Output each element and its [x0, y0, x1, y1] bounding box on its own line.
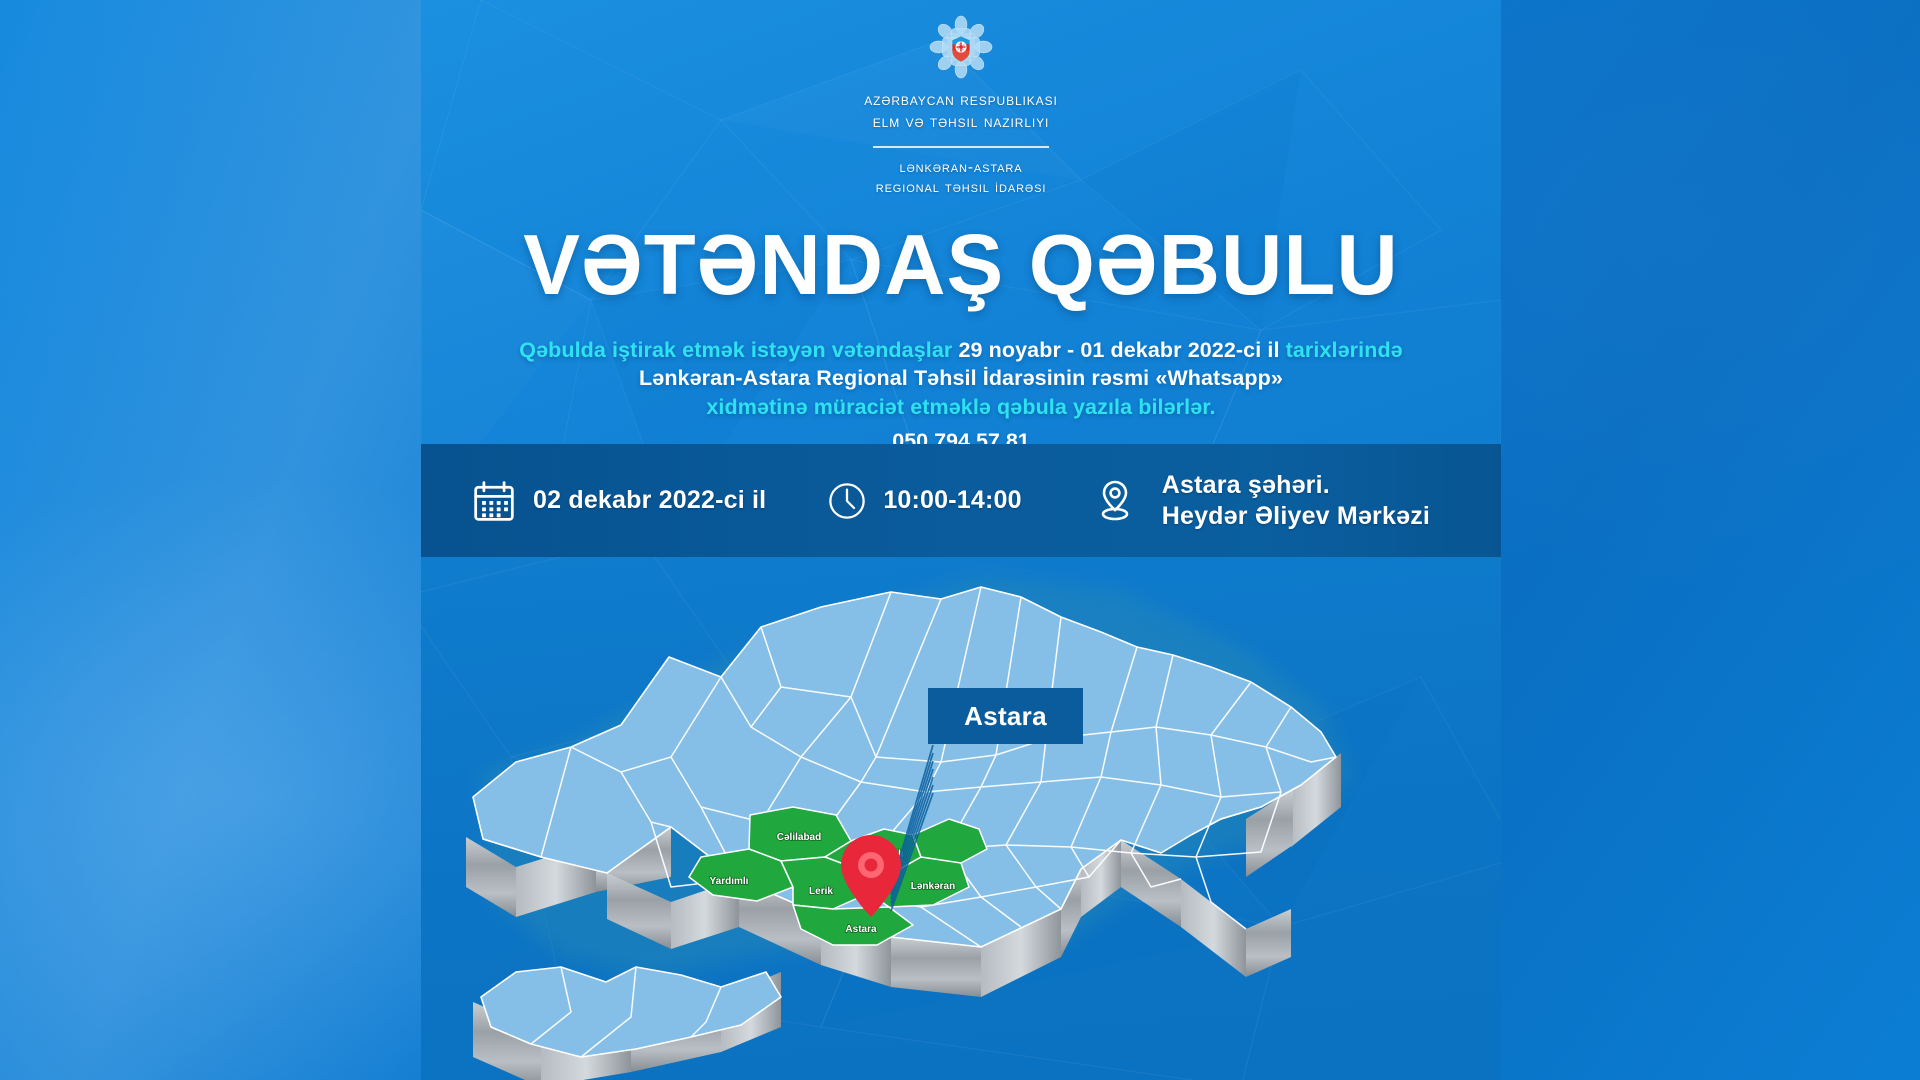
azerbaijan-ministry-emblem-icon [928, 14, 994, 80]
event-location-line2: Heydər Əliyev Mərkəzi [1162, 501, 1430, 532]
department-name-line2: Regional Təhsil İdarəsi [421, 178, 1501, 199]
page-title: VƏTƏNDAŞ QƏBULU [421, 223, 1501, 308]
region-label-yardimli: Yardımlı [710, 876, 749, 887]
map-section: Cəlilabad Masallı Yardımlı Lerik Lənkəra… [421, 557, 1501, 1080]
astara-callout-label: Astara [964, 701, 1047, 732]
announcement-text: Qəbulda iştirak etmək istəyən vətəndaşla… [421, 336, 1501, 454]
poster-canvas: Azərbaycan Respublikası Elm və Təhsil Na… [421, 0, 1501, 1080]
event-date-item: 02 dekabr 2022-ci il [472, 479, 766, 523]
identity-divider [873, 146, 1049, 148]
ministry-name-line1: Azərbaycan Respublikası [421, 90, 1501, 112]
clock-icon [826, 480, 868, 522]
department-name-line1: Lənkəran-Astara [421, 158, 1501, 179]
announcement-date-range: 29 noyabr - 01 dekabr 2022-ci il [958, 338, 1279, 362]
announcement-line-1: Qəbulda iştirak etmək istəyən vətəndaşla… [443, 336, 1479, 364]
calendar-icon [472, 479, 516, 523]
region-label-astara: Astara [845, 924, 877, 935]
azerbaijan-map: Cəlilabad Masallı Yardımlı Lerik Lənkəra… [421, 557, 1501, 1080]
announcement-line1-part1: Qəbulda iştirak etmək istəyən vətəndaşla… [519, 338, 958, 362]
ministry-name-line2: Elm və Təhsil Nazirliyi [421, 112, 1501, 134]
astara-callout[interactable]: Astara [928, 688, 1083, 744]
region-label-calilabad: Cəlilabad [777, 832, 821, 843]
event-date-value: 02 dekabr 2022-ci il [533, 485, 766, 516]
announcement-line-3: xidmətinə müraciət etməklə qəbula yazıla… [443, 393, 1479, 421]
event-time-item: 10:00-14:00 [826, 480, 1021, 522]
event-location-line1: Astara şəhəri. [1162, 470, 1430, 501]
map-pin-icon [1094, 477, 1136, 525]
identity-block: Azərbaycan Respublikası Elm və Təhsil Na… [421, 0, 1501, 199]
announcement-line-2: Lənkəran-Astara Regional Təhsil İdarəsin… [443, 364, 1479, 392]
event-info-bar: 02 dekabr 2022-ci il 10:00-14:00 Astara … [421, 444, 1501, 557]
region-label-lerik: Lerik [809, 886, 833, 897]
announcement-line1-part3: tarixlərində [1280, 338, 1403, 362]
event-location-item: Astara şəhəri. Heydər Əliyev Mərkəzi [1094, 470, 1430, 531]
region-label-lankaran: Lənkəran [911, 881, 955, 892]
event-time-value: 10:00-14:00 [883, 485, 1021, 516]
